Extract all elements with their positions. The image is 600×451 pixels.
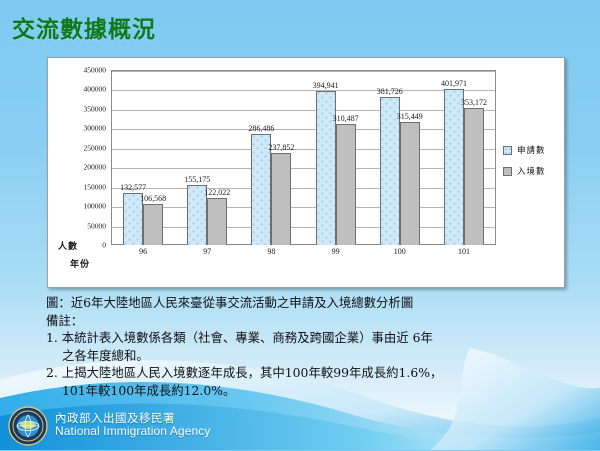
notes-block: 圖：近6年大陸地區人民來臺從事交流活動之申請及入境總數分析圖 備註： 1. 本統… (46, 294, 566, 399)
remark-header: 備註： (46, 312, 566, 330)
bar-value-label: 353,172 (461, 98, 487, 107)
remark-item-1-line-2: 之各年度總和。 (46, 347, 566, 365)
bar-value-label: 310,487 (333, 114, 359, 123)
figure-caption: 圖：近6年大陸地區人民來臺從事交流活動之申請及入境總數分析圖 (46, 294, 566, 312)
bar-value-label: 237,852 (268, 143, 294, 152)
y-axis-tick-label: 450000 (84, 66, 107, 75)
bar-value-label: 401,971 (441, 79, 467, 88)
bar-group: 381,726315,449 (368, 70, 432, 245)
y-axis-label: 人數 (58, 239, 78, 252)
x-axis-tick-label: 98 (239, 247, 303, 256)
y-axis-ticks: 4500004000003500003000002500002000001500… (48, 70, 106, 245)
y-axis-tick-label: 200000 (84, 163, 107, 172)
y-axis-tick-label: 50000 (87, 221, 106, 230)
x-axis-tick-label: 96 (111, 247, 175, 256)
legend-item: 入境數 (503, 165, 546, 177)
bar-entry: 237,852 (271, 153, 291, 245)
organization-name-en: National Immigration Agency (55, 425, 210, 438)
bar-value-label: 122,022 (204, 188, 230, 197)
chart-legend: 申請數入境數 (503, 144, 546, 177)
chart-plot-wrapper: 4500004000003500003000002500002000001500… (48, 58, 564, 287)
x-axis-label: 年份 (70, 257, 90, 270)
y-axis-tick-label: 250000 (84, 143, 107, 152)
remark-item-2-line-1: 2. 上揭大陸地區人民入境數逐年成長，其中100年較99年成長約1.6%， (46, 364, 566, 382)
chart-panel: 4500004000003500003000002500002000001500… (47, 57, 565, 288)
bar-value-label: 155,175 (184, 175, 210, 184)
legend-label: 申請數 (517, 144, 546, 156)
remark-item-1-line-1: 1. 本統計表入境數係各類（社會、專業、商務及跨國企業）事由近 6年 (46, 329, 566, 347)
y-axis-tick-label: 400000 (84, 85, 107, 94)
bar-groups: 132,577106,568155,175122,022286,486237,8… (111, 70, 496, 245)
bar-value-label: 286,486 (248, 124, 274, 133)
national-immigration-agency-emblem-icon (8, 406, 48, 446)
legend-item: 申請數 (503, 144, 546, 156)
organization-name-zh: 內政部入出國及移民署 (55, 412, 210, 425)
bar-entry: 106,568 (143, 204, 163, 245)
bar-value-label: 381,726 (377, 87, 403, 96)
bar-value-label: 132,577 (120, 183, 146, 192)
legend-label: 入境數 (517, 165, 546, 177)
y-axis-tick-label: 300000 (84, 124, 107, 133)
bar-value-label: 394,941 (313, 81, 339, 90)
bar-value-label: 315,449 (397, 112, 423, 121)
bar-entry: 122,022 (207, 198, 227, 245)
bar-group: 155,175122,022 (175, 70, 239, 245)
x-axis-tick-label: 97 (175, 247, 239, 256)
x-axis-tick-label: 100 (368, 247, 432, 256)
legend-swatch-icon (503, 146, 512, 155)
x-axis-tick-label: 101 (432, 247, 496, 256)
bar-group: 401,971353,172 (432, 70, 496, 245)
footer: 內政部入出國及移民署 National Immigration Agency (8, 406, 210, 446)
bar-entry: 315,449 (400, 122, 420, 245)
bar-entry: 353,172 (464, 108, 484, 245)
bar-group: 132,577106,568 (111, 70, 175, 245)
y-axis-tick-label: 100000 (84, 202, 107, 211)
remark-item-2-line-2: 101年較100年成長約12.0%。 (46, 382, 566, 400)
bar-group: 394,941310,487 (304, 70, 368, 245)
bar-entry: 310,487 (336, 124, 356, 245)
bar-value-label: 106,568 (140, 194, 166, 203)
organization-name: 內政部入出國及移民署 National Immigration Agency (55, 412, 210, 440)
y-axis-tick-label: 150000 (84, 182, 107, 191)
y-axis-tick-label: 0 (102, 241, 106, 250)
x-axis-ticks: 96979899100101 (111, 247, 496, 256)
bar-group: 286,486237,852 (239, 70, 303, 245)
legend-swatch-icon (503, 167, 512, 176)
x-axis-tick-label: 99 (304, 247, 368, 256)
y-axis-tick-label: 350000 (84, 104, 107, 113)
page-title: 交流數據概況 (12, 10, 156, 44)
bar-apply: 401,971 (444, 89, 464, 245)
